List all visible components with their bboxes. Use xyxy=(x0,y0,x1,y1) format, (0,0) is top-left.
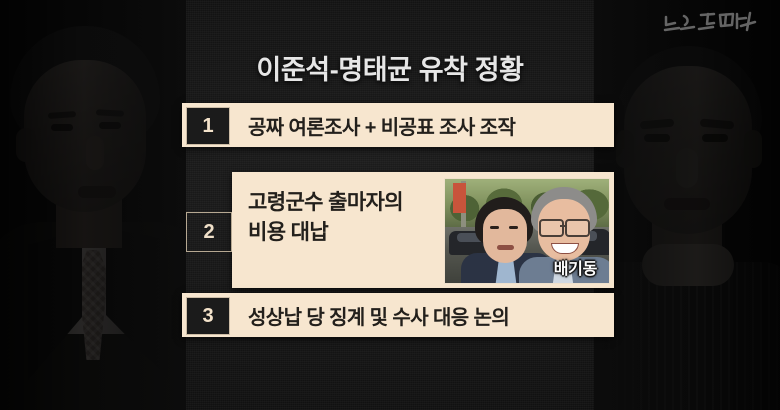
row3-number-badge: 3 xyxy=(186,297,230,335)
list-item: 3 성상납 당 징계 및 수사 대응 논의 xyxy=(182,293,614,337)
photo-person-left-eye xyxy=(509,226,518,229)
row1-number-badge: 1 xyxy=(186,107,230,145)
photo-person-right-glasses-bridge xyxy=(560,225,565,227)
newstapa-logo-icon xyxy=(662,8,766,38)
broadcast-graphic: 이준석-명태균 유착 정황 1 공짜 여론조사 + 비공표 조사 조작 2 고령… xyxy=(0,0,780,410)
photo-person-left-face xyxy=(483,209,527,263)
photo-person-right-glasses xyxy=(539,219,564,237)
row2-text-line1: 고령군수 출마자의 xyxy=(248,188,403,218)
row2-text: 고령군수 출마자의 비용 대납 xyxy=(248,188,403,248)
row2-text-line2: 비용 대납 xyxy=(248,218,403,248)
row2-number-badge: 2 xyxy=(186,212,232,252)
list-item: 1 공짜 여론조사 + 비공표 조사 조작 xyxy=(182,103,614,147)
row3-text: 성상납 당 징계 및 수사 대응 논의 xyxy=(248,293,602,337)
page-title: 이준석-명태균 유착 정황 xyxy=(0,48,780,87)
photo-person-left-eye xyxy=(490,226,499,229)
photo-caption: 배기동 xyxy=(554,255,597,279)
list-item: 2 고령군수 출마자의 비용 대납 xyxy=(182,172,614,288)
photo-person-left-mouth xyxy=(497,245,514,250)
row2-photo: 배기동 xyxy=(444,178,610,284)
photo-banner xyxy=(453,183,466,213)
photo-person-right-glasses xyxy=(565,219,590,237)
row1-text: 공짜 여론조사 + 비공표 조사 조작 xyxy=(248,103,602,147)
